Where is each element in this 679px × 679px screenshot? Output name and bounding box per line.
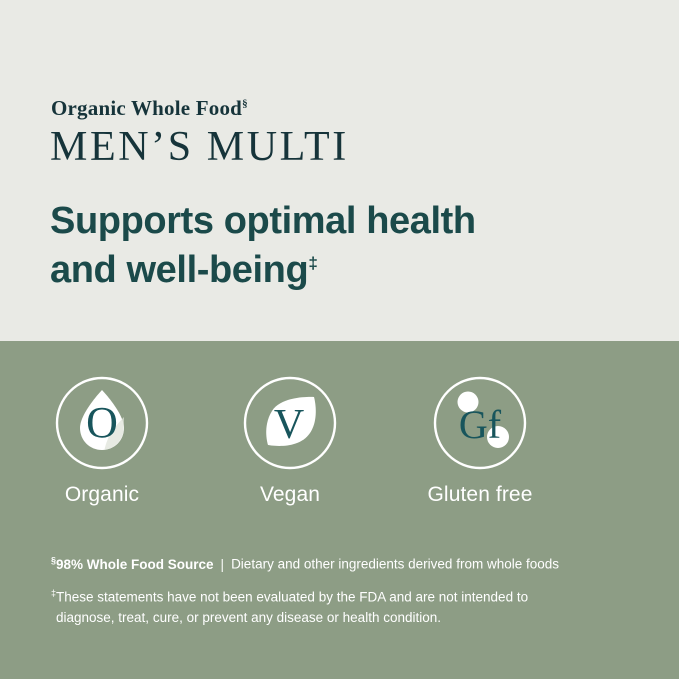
- headline: Supports optimal health and well-being‡: [50, 197, 610, 296]
- eyebrow-text: Organic Whole Food§: [51, 96, 248, 121]
- headline-line-2: and well-being: [50, 249, 308, 291]
- footnote-1-strong: §98% Whole Food Source: [51, 557, 214, 572]
- vegan-letter: V: [274, 402, 304, 448]
- product-marketing-panel: Organic Whole Food§ MEN’S MULTI Supports…: [0, 0, 679, 679]
- headline-line-1: Supports optimal health: [50, 200, 476, 242]
- vegan-leaf-icon: V: [242, 375, 338, 471]
- badge-row: O Organic V Vegan Gf: [0, 375, 679, 507]
- organic-droplet-leaf-icon: O: [54, 375, 150, 471]
- page-title: MEN’S MULTI: [50, 126, 349, 168]
- footnote-2-line-2: diagnose, treat, cure, or prevent any di…: [51, 608, 651, 629]
- footnotes: §98% Whole Food Source|Dietary and other…: [51, 554, 651, 629]
- badge-label-organic: Organic: [65, 483, 139, 507]
- footnote-fda-disclaimer: ‡These statements have not been evaluate…: [51, 587, 651, 629]
- badge-organic: O Organic: [8, 375, 196, 507]
- footnote-whole-food-source: §98% Whole Food Source|Dietary and other…: [51, 554, 651, 574]
- headline-footnote-marker: ‡: [308, 254, 317, 273]
- footnote-2-line-1: These statements have not been evaluated…: [56, 590, 528, 605]
- footnote-1-strong-text: 98% Whole Food Source: [56, 557, 214, 572]
- certifications-section: O Organic V Vegan Gf: [0, 341, 679, 679]
- hero-section: Organic Whole Food§ MEN’S MULTI Supports…: [0, 0, 679, 341]
- eyebrow-label: Organic Whole Food: [51, 96, 242, 120]
- badge-label-vegan: Vegan: [260, 483, 320, 507]
- gluten-free-letters: Gf: [459, 402, 502, 447]
- gluten-free-icon: Gf: [432, 375, 528, 471]
- badge-gluten-free: Gf Gluten free: [386, 375, 574, 507]
- footnote-1-rest: Dietary and other ingredients derived fr…: [231, 557, 559, 572]
- badge-label-gluten-free: Gluten free: [428, 483, 533, 507]
- organic-letter: O: [86, 398, 118, 447]
- badge-vegan: V Vegan: [196, 375, 384, 507]
- eyebrow-footnote-marker: §: [242, 98, 248, 110]
- footnote-separator: |: [214, 555, 232, 575]
